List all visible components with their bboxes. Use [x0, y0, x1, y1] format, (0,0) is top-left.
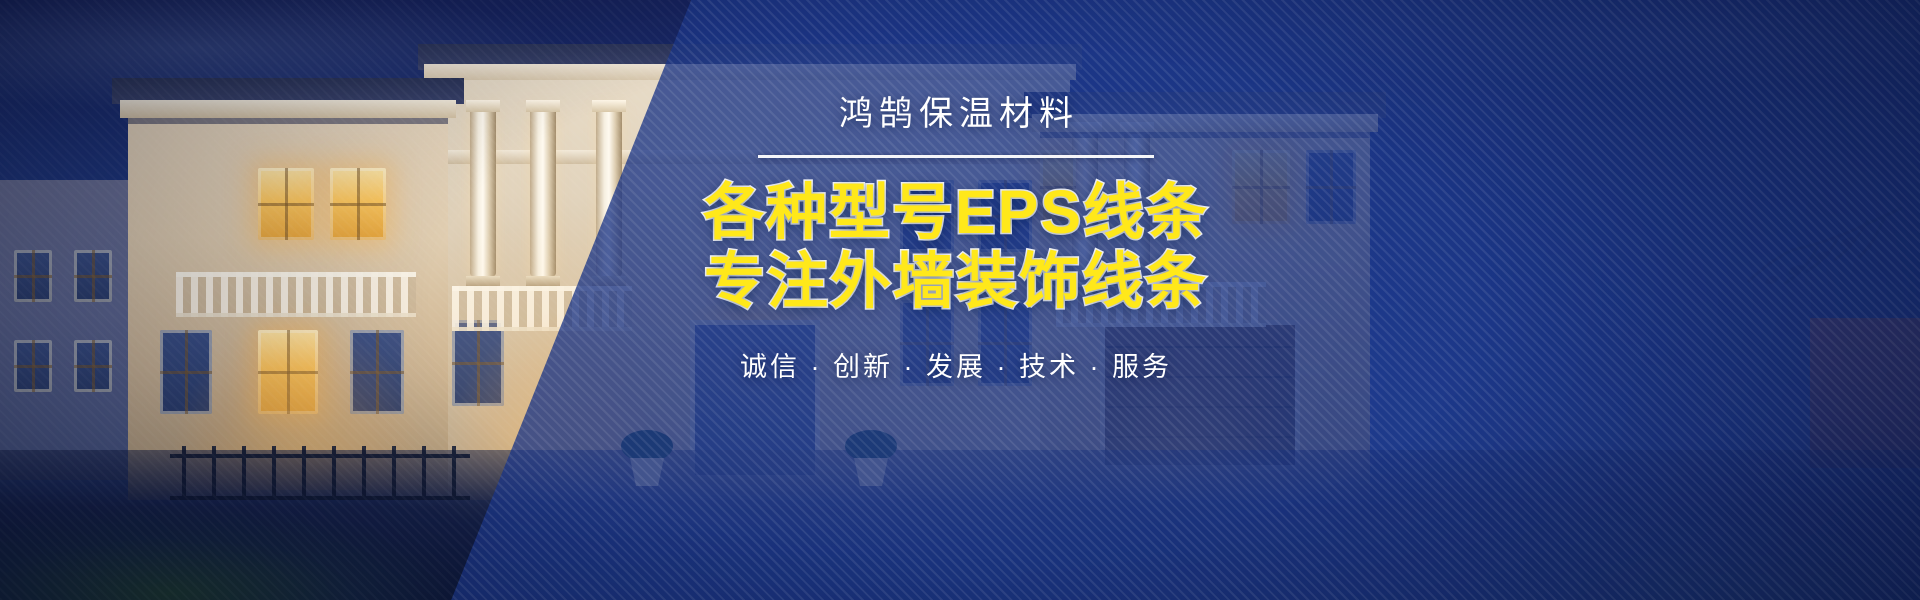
eave-shadow: [128, 118, 448, 124]
portico-column: [470, 108, 496, 276]
banner-copy: 鸿鹄保温材料 各种型号EPS线条 专注外墙装饰线条 诚信 · 创新 · 发展 ·…: [576, 96, 1336, 384]
lit-window: [330, 168, 386, 240]
distant-window: [74, 250, 112, 302]
promo-banner: 鸿鹄保温材料 各种型号EPS线条 专注外墙装饰线条 诚信 · 创新 · 发展 ·…: [0, 0, 1920, 600]
headline-line-1: 各种型号EPS线条: [703, 178, 1209, 246]
column-base: [526, 276, 560, 286]
left-tower-cornice: [120, 100, 456, 118]
dark-window: [350, 330, 404, 414]
column-capital: [526, 100, 560, 112]
iron-fence: [170, 432, 470, 502]
lit-window: [258, 330, 318, 414]
distant-window: [14, 340, 52, 392]
dark-window: [160, 330, 212, 414]
column-base: [466, 276, 500, 286]
tagline: 诚信 · 创新 · 发展 · 技术 · 服务: [576, 345, 1336, 384]
headline: 各种型号EPS线条 专注外墙装饰线条: [576, 178, 1336, 315]
column-capital: [466, 100, 500, 112]
portico-column: [530, 108, 556, 276]
divider-rule: [758, 155, 1154, 158]
lit-window: [258, 168, 314, 240]
distant-window: [14, 250, 52, 302]
dark-window: [452, 320, 504, 406]
brand-name: 鸿鹄保温材料: [576, 96, 1336, 133]
headline-line-2: 专注外墙装饰线条: [576, 247, 1336, 315]
distant-window: [74, 340, 112, 392]
balustrade: [176, 272, 416, 317]
